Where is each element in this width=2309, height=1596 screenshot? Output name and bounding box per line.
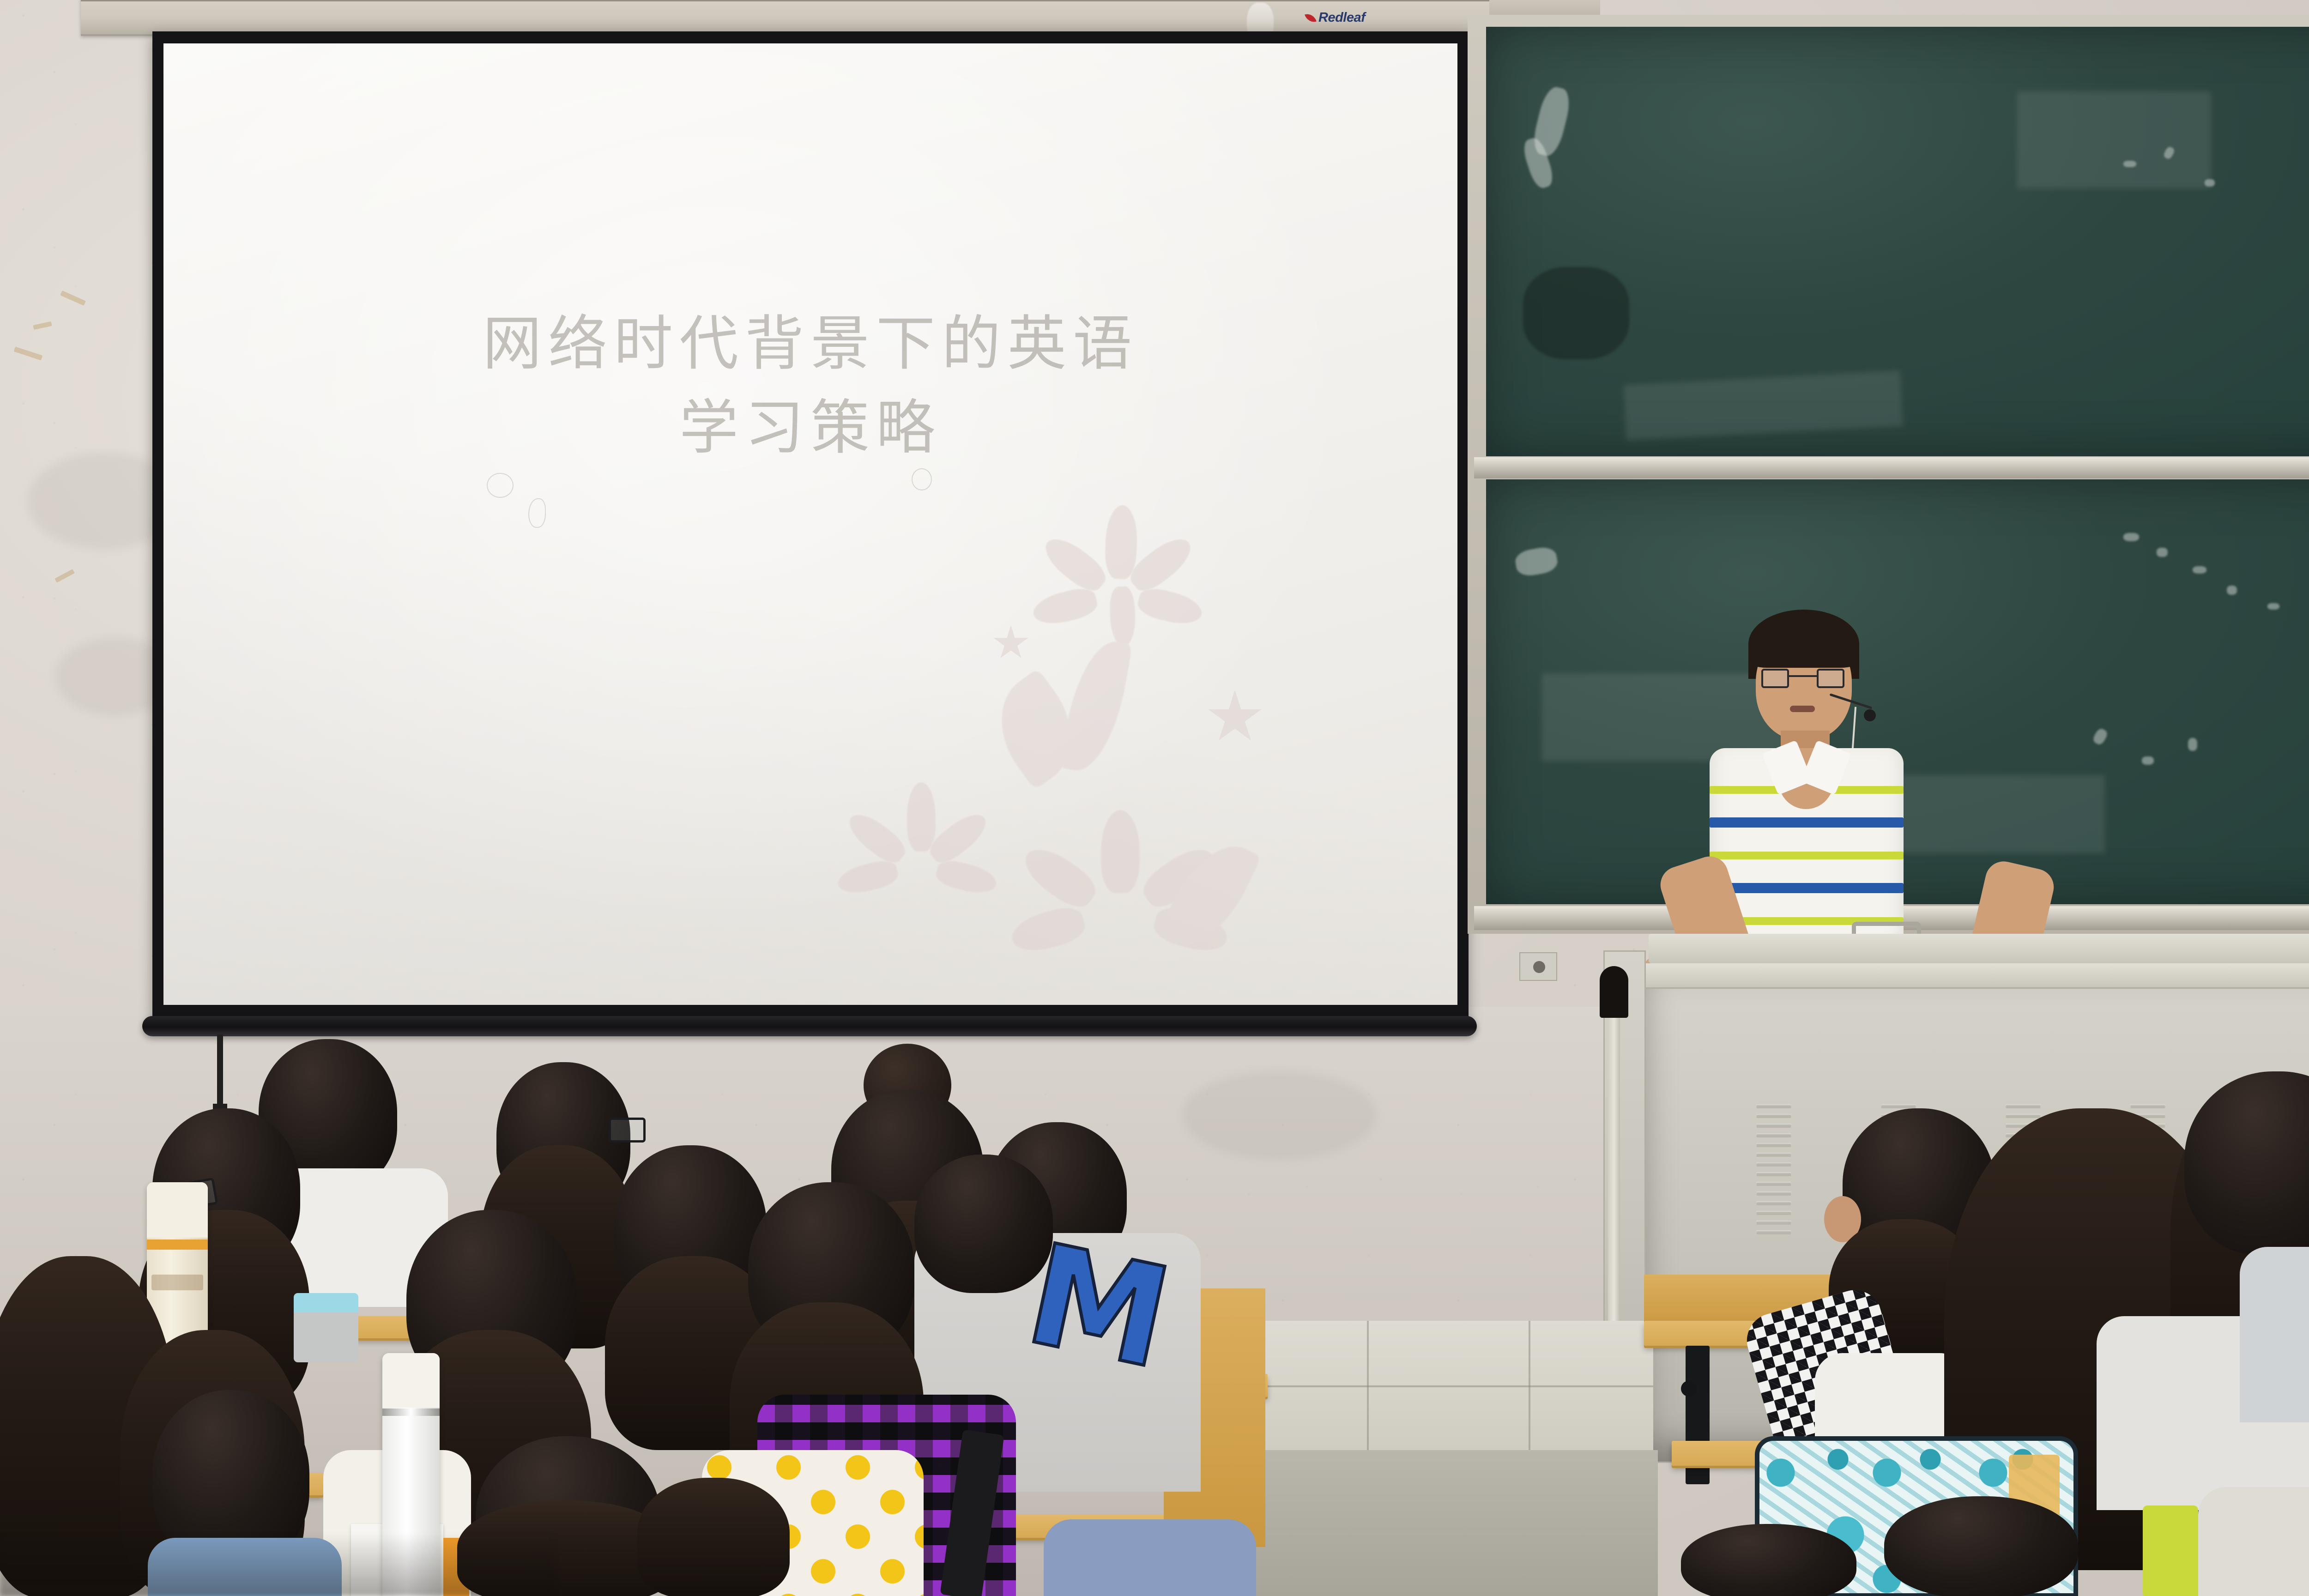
wall-blemish — [1182, 1071, 1376, 1159]
student-denim — [1044, 1519, 1256, 1596]
projection-screen-surface: 网络时代背景下的英语 学习策略 — [163, 43, 1457, 1005]
tile-seam — [1529, 1321, 1530, 1450]
slide-title-line1: 网络时代背景下的英语 — [163, 302, 1457, 386]
redleaf-brand-logo: Redleaf — [1306, 10, 1365, 25]
floral-star — [993, 625, 1029, 661]
tile-seam — [1367, 1321, 1369, 1450]
housing-shadow — [81, 0, 1489, 1]
student-glasses — [609, 1118, 646, 1143]
projection-screen: 网络时代背景下的英语 学习策略 — [152, 31, 1469, 1024]
screen-scribble — [487, 473, 514, 498]
cup-blue[interactable] — [294, 1293, 358, 1362]
headset-microphone — [1864, 709, 1876, 721]
student-head — [914, 1155, 1053, 1293]
lecturer-hairline — [1749, 625, 1858, 668]
floral-star — [1207, 690, 1263, 745]
screen-weight-bar — [142, 1016, 1477, 1036]
podium-vent — [1756, 1104, 1791, 1240]
slide-floral-decoration — [884, 487, 1438, 972]
student-shoulders — [2198, 1487, 2309, 1596]
screen-scribble — [528, 498, 546, 528]
student-head — [1681, 1524, 1856, 1596]
blackboard-rail-middle — [1474, 457, 2309, 478]
wall-socket-plate — [1519, 952, 1557, 981]
desk-knob — [1681, 1381, 1697, 1396]
lecturer-mouth — [1790, 706, 1815, 712]
floral-flower — [1041, 505, 1198, 658]
student-head — [1884, 1496, 2078, 1596]
screen-scribble — [912, 468, 932, 490]
lecturer-glasses — [1759, 669, 1852, 687]
projector-screen-housing — [81, 0, 1489, 36]
floral-flower — [847, 782, 995, 921]
slide-title-line2: 学习策略 — [163, 386, 1457, 470]
podium-top-edge — [1638, 963, 2309, 987]
student-hair-long — [637, 1478, 790, 1596]
red-leaf-icon — [1305, 12, 1317, 24]
foreground-blur — [0, 1533, 554, 1596]
redleaf-brand-label: Redleaf — [1318, 10, 1365, 25]
blackboard-panel-upper — [1486, 27, 2309, 456]
pointer-pole-cap — [1600, 966, 1628, 1018]
podium-handle[interactable] — [1852, 922, 1921, 934]
student-striped-top — [2240, 1247, 2309, 1422]
classroom-photo: Redleaf — [0, 0, 2309, 1596]
backpack-accessory — [2143, 1505, 2198, 1596]
podium-top-surface — [1649, 934, 2309, 963]
slide-title: 网络时代背景下的英语 学习策略 — [163, 302, 1457, 470]
